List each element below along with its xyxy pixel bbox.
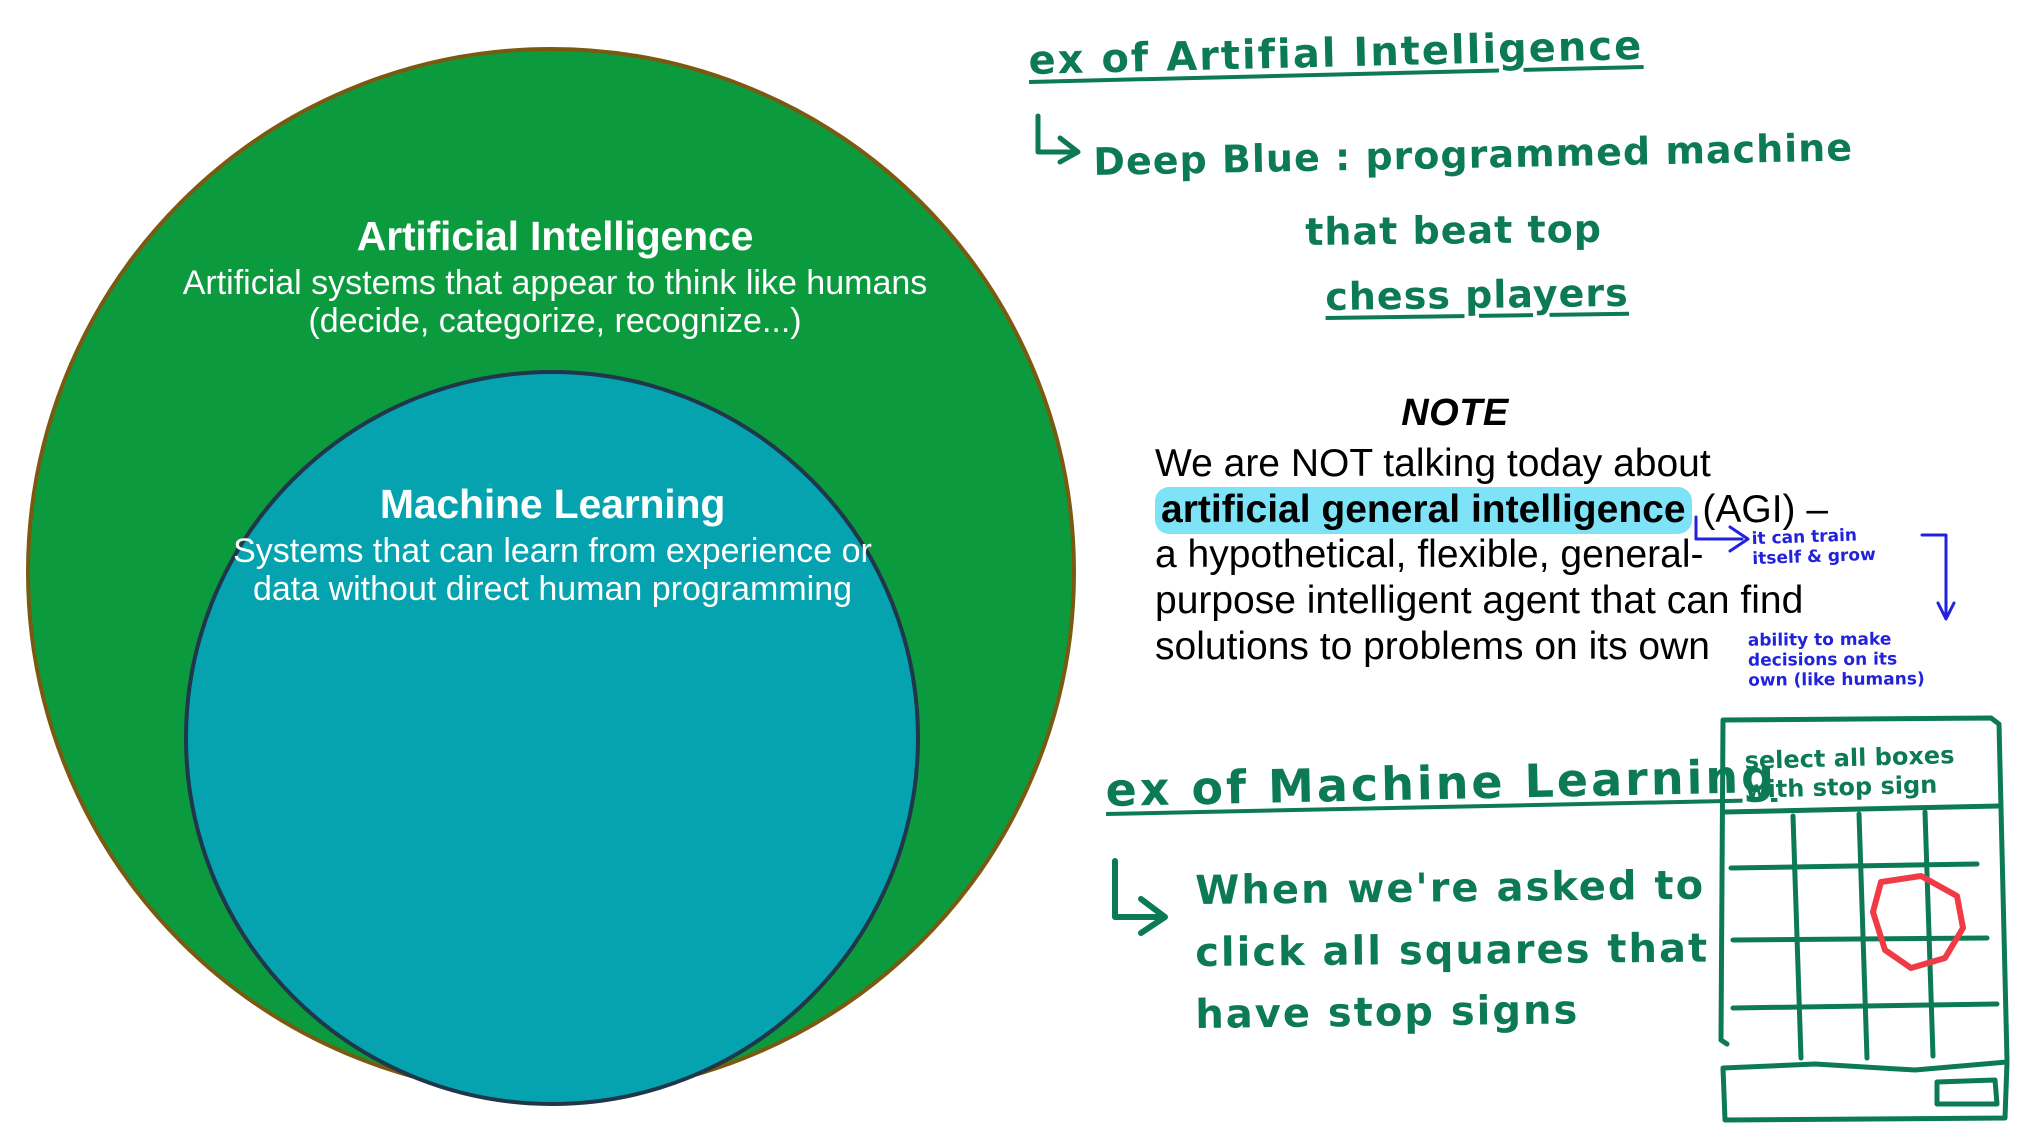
note-line-1: We are NOT talking today about	[1155, 441, 1915, 487]
handwritten-ai-example-line1: Deep Blue : programmed machine	[1093, 125, 1853, 184]
handwritten-ml-example-line3: have stop signs	[1195, 987, 1580, 1038]
slide-canvas: Artificial Intelligence Artificial syste…	[0, 0, 2044, 1141]
handwritten-ml-example-line2: click all squares that	[1195, 926, 1709, 976]
handwritten-ai-example-line3: chess players	[1325, 271, 1629, 319]
ai-description: Artificial systems that appear to think …	[160, 264, 950, 340]
stop-sign-octagon	[1873, 876, 1963, 968]
arrow-hook-icon-2	[1105, 855, 1185, 955]
note-title: NOTE	[1155, 392, 1755, 435]
handwritten-ml-example-heading: ex of Machine Learning	[1105, 749, 1777, 817]
annotation-make-decisions: ability to make decisions on its own (li…	[1748, 629, 1925, 691]
captcha-footer	[1723, 1062, 2007, 1120]
annotation-make-decisions-line1: ability to make	[1748, 629, 1925, 651]
captcha-grid-h2	[1733, 938, 1987, 940]
ml-description: Systems that can learn from experience o…	[215, 532, 890, 608]
captcha-caption: select all boxes with stop sign	[1744, 741, 1955, 805]
agi-highlight: artificial general intelligence	[1155, 487, 1692, 534]
handwritten-ml-example-line1: When we're asked to	[1195, 863, 1705, 914]
captcha-grid-v3	[1925, 812, 1933, 1056]
handwritten-ai-example-heading: ex of Artifial Intelligence	[1028, 23, 1644, 84]
arrow-hook-icon	[1030, 110, 1090, 180]
ml-label-group: Machine Learning Systems that can learn …	[215, 482, 890, 608]
captcha-grid-v2	[1859, 814, 1867, 1058]
venn-diagram: Artificial Intelligence Artificial syste…	[0, 0, 1120, 1141]
annotation-make-decisions-line2: decisions on its	[1748, 649, 1925, 671]
handwritten-ai-example-line2: that beat top	[1305, 207, 1602, 254]
ml-title: Machine Learning	[215, 482, 890, 528]
annotation-make-decisions-line3: own (like humans)	[1748, 669, 1925, 691]
captcha-caption-line2: with stop sign	[1745, 770, 1956, 805]
captcha-grid-h1	[1731, 864, 1977, 868]
annotation-train-itself: it can train itself & grow	[1751, 525, 1876, 569]
ai-label-group: Artificial Intelligence Artificial syste…	[160, 214, 950, 340]
captcha-caption-rule	[1725, 806, 1999, 812]
captcha-sketch: select all boxes with stop sign	[1715, 700, 2044, 1141]
captcha-verify-button	[1937, 1080, 1997, 1104]
ai-title: Artificial Intelligence	[160, 214, 950, 260]
